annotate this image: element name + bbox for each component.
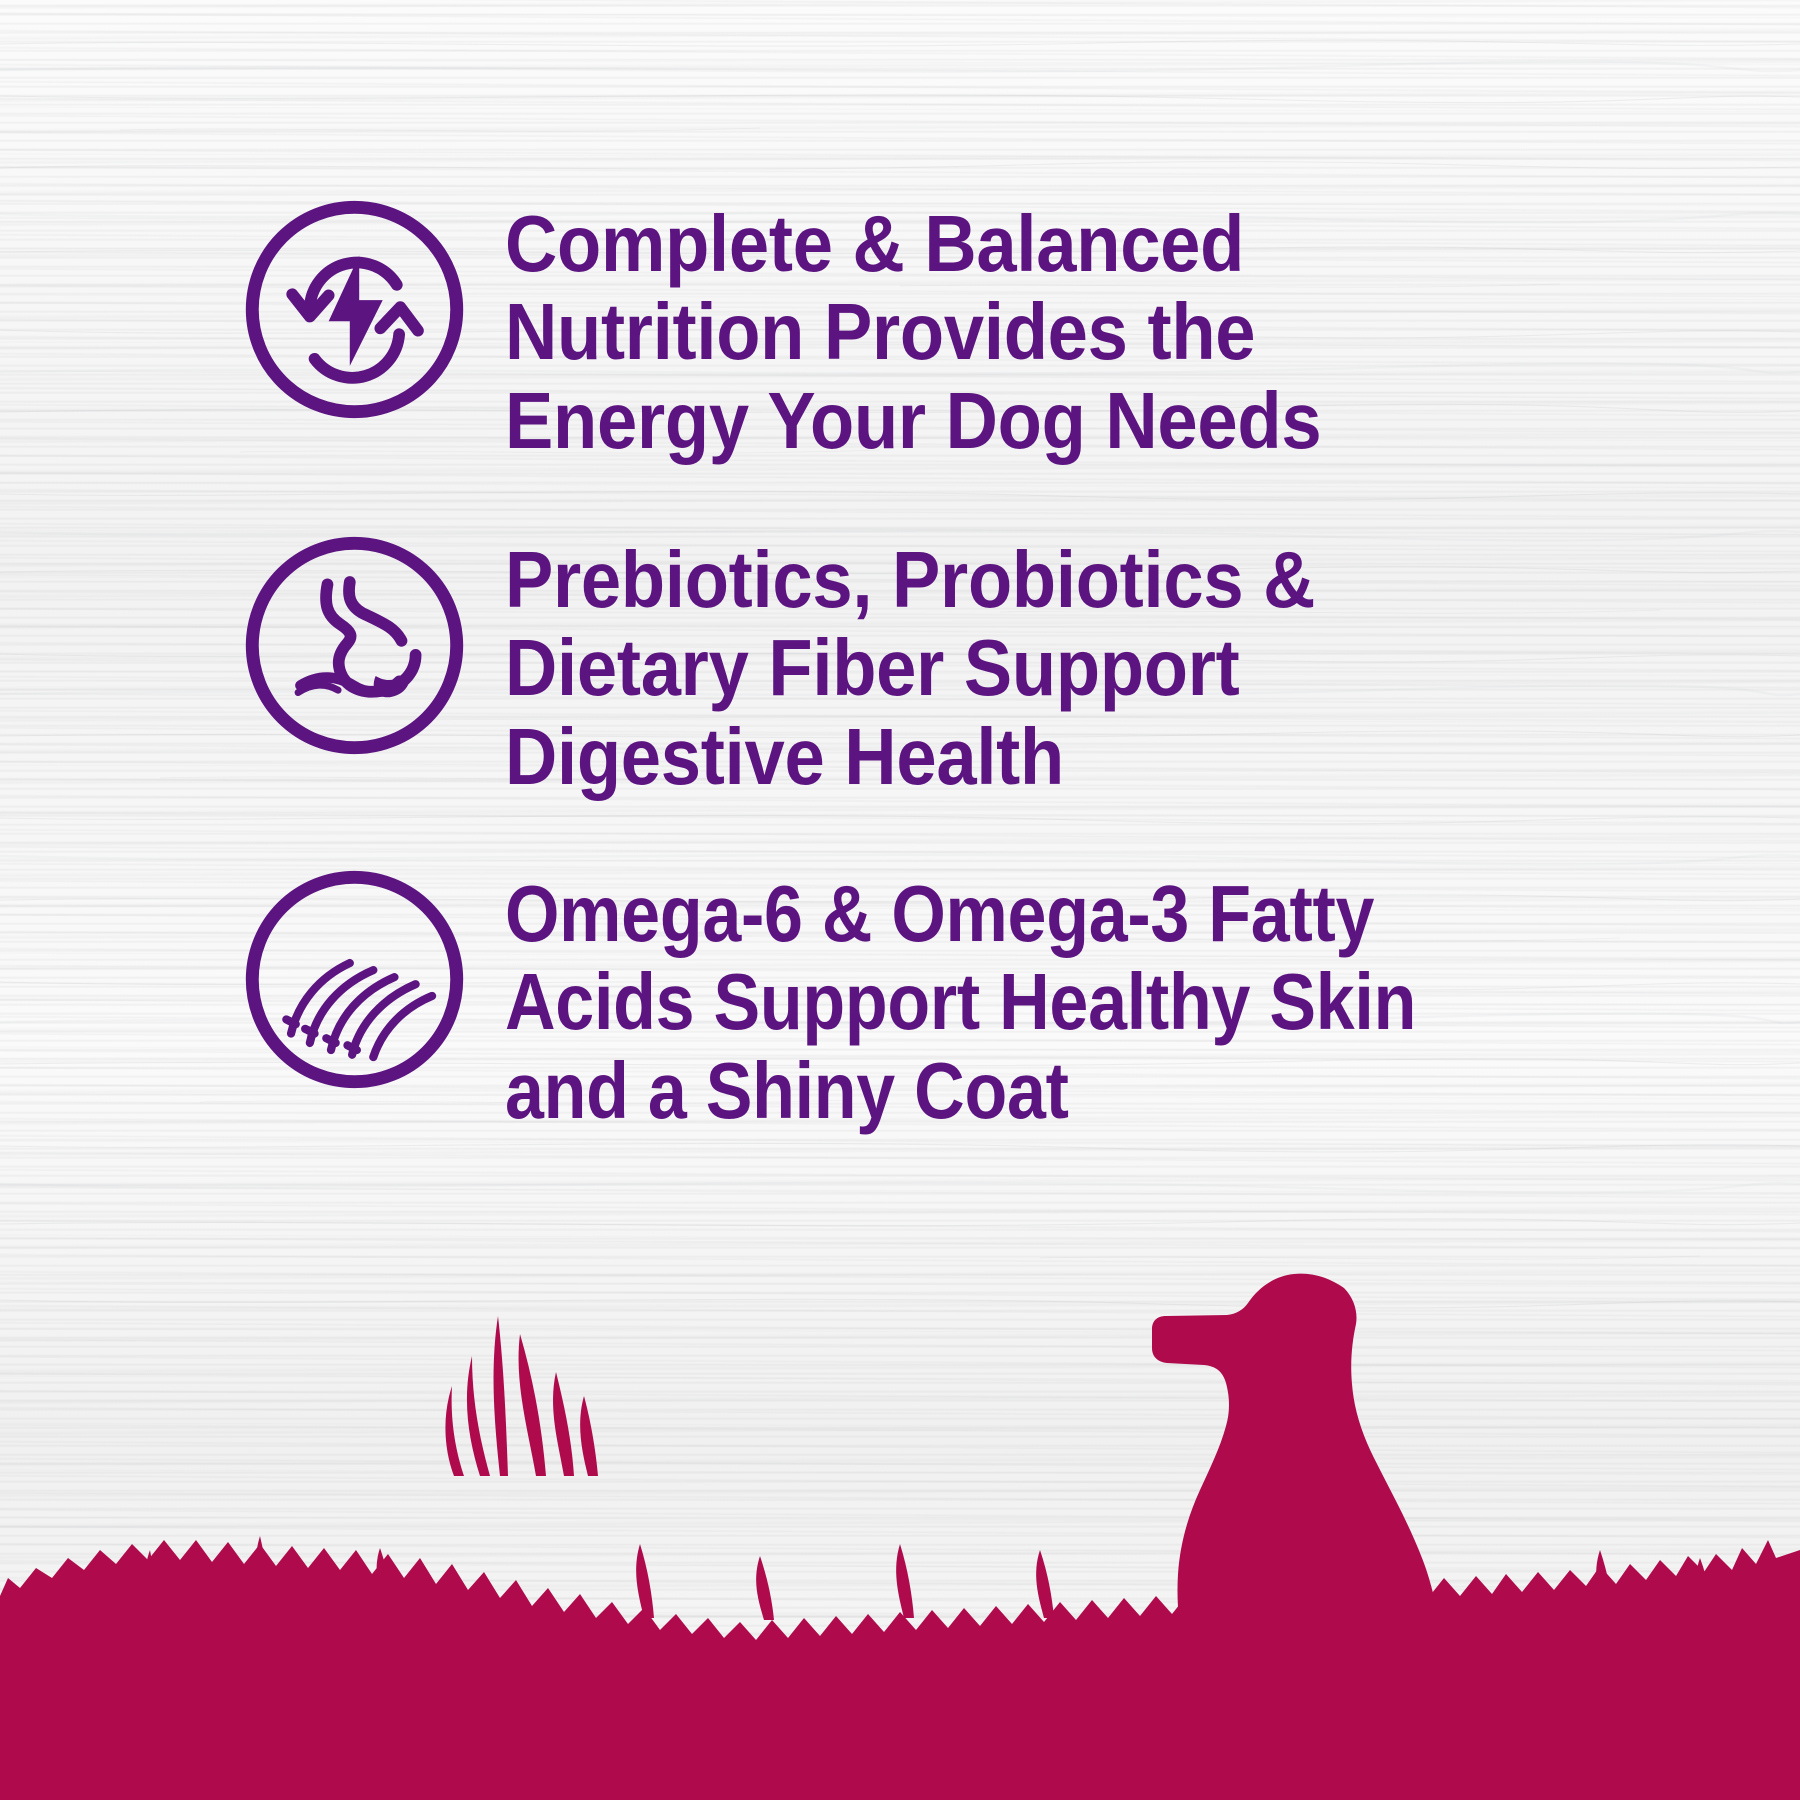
skin-coat-hair-icon — [237, 862, 472, 1097]
feature-item: Complete & Balanced Nutrition Provides t… — [237, 192, 1407, 465]
scenery — [0, 1120, 1800, 1800]
feature-label: Omega-6 & Omega-3 Fatty Acids Support He… — [505, 862, 1416, 1135]
feature-item: Prebiotics, Probiotics & Dietary Fiber S… — [237, 528, 1400, 801]
promo-panel: Complete & Balanced Nutrition Provides t… — [0, 0, 1800, 1800]
grass-tufts — [445, 1316, 598, 1476]
stomach-digestion-icon — [237, 528, 472, 763]
feature-label: Complete & Balanced Nutrition Provides t… — [505, 192, 1321, 465]
feature-item: Omega-6 & Omega-3 Fatty Acids Support He… — [237, 862, 1546, 1135]
energy-refresh-icon — [237, 192, 472, 427]
feature-label: Prebiotics, Probiotics & Dietary Fiber S… — [505, 528, 1315, 801]
